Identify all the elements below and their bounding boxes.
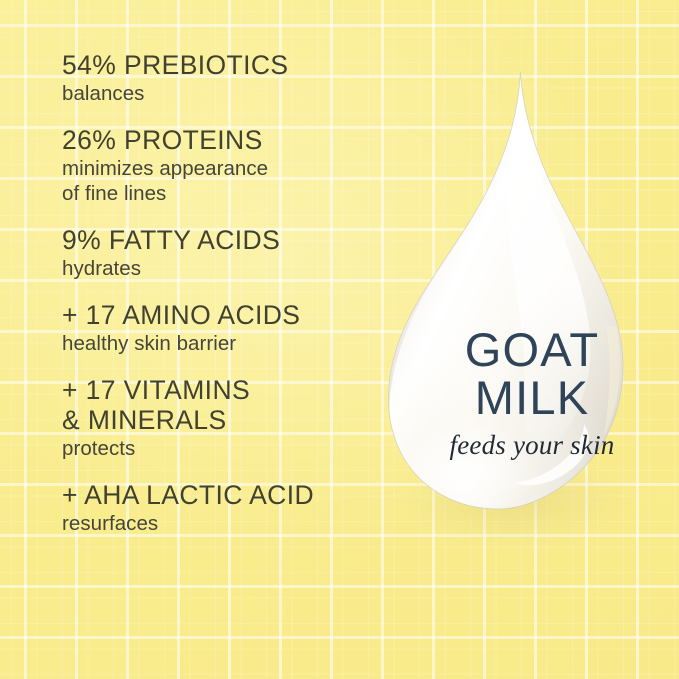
ingredient-benefit: healthy skin barrier [62,331,380,356]
ingredient-item-aha-lactic-acid: + AHA LACTIC ACID resurfaces [62,480,380,536]
poster-canvas: 54% PREBIOTICS balances 26% PROTEINS min… [0,0,679,679]
ingredient-item-fatty-acids: 9% FATTY ACIDS hydrates [62,225,380,281]
ingredient-list: 54% PREBIOTICS balances 26% PROTEINS min… [62,50,380,536]
ingredient-benefit: minimizes appearanceof fine lines [62,156,380,206]
ingredient-headline: 54% PREBIOTICS [62,50,380,80]
ingredient-item-proteins: 26% PROTEINS minimizes appearanceof fine… [62,125,380,206]
ingredient-headline: + 17 AMINO ACIDS [62,300,380,330]
ingredient-benefit: resurfaces [62,511,380,536]
ingredient-headline: 9% FATTY ACIDS [62,225,380,255]
ingredient-headline: + AHA LACTIC ACID [62,480,380,510]
ingredient-headline: 26% PROTEINS [62,125,380,155]
ingredient-benefit: protects [62,436,380,461]
ingredient-item-prebiotics: 54% PREBIOTICS balances [62,50,380,106]
ingredient-benefit: balances [62,81,380,106]
ingredient-headline: + 17 VITAMINS& MINERALS [62,375,380,435]
ingredient-benefit: hydrates [62,256,380,281]
ingredient-item-amino-acids: + 17 AMINO ACIDS healthy skin barrier [62,300,380,356]
milk-droplet-icon [372,58,672,558]
ingredient-item-vitamins-minerals: + 17 VITAMINS& MINERALS protects [62,375,380,461]
